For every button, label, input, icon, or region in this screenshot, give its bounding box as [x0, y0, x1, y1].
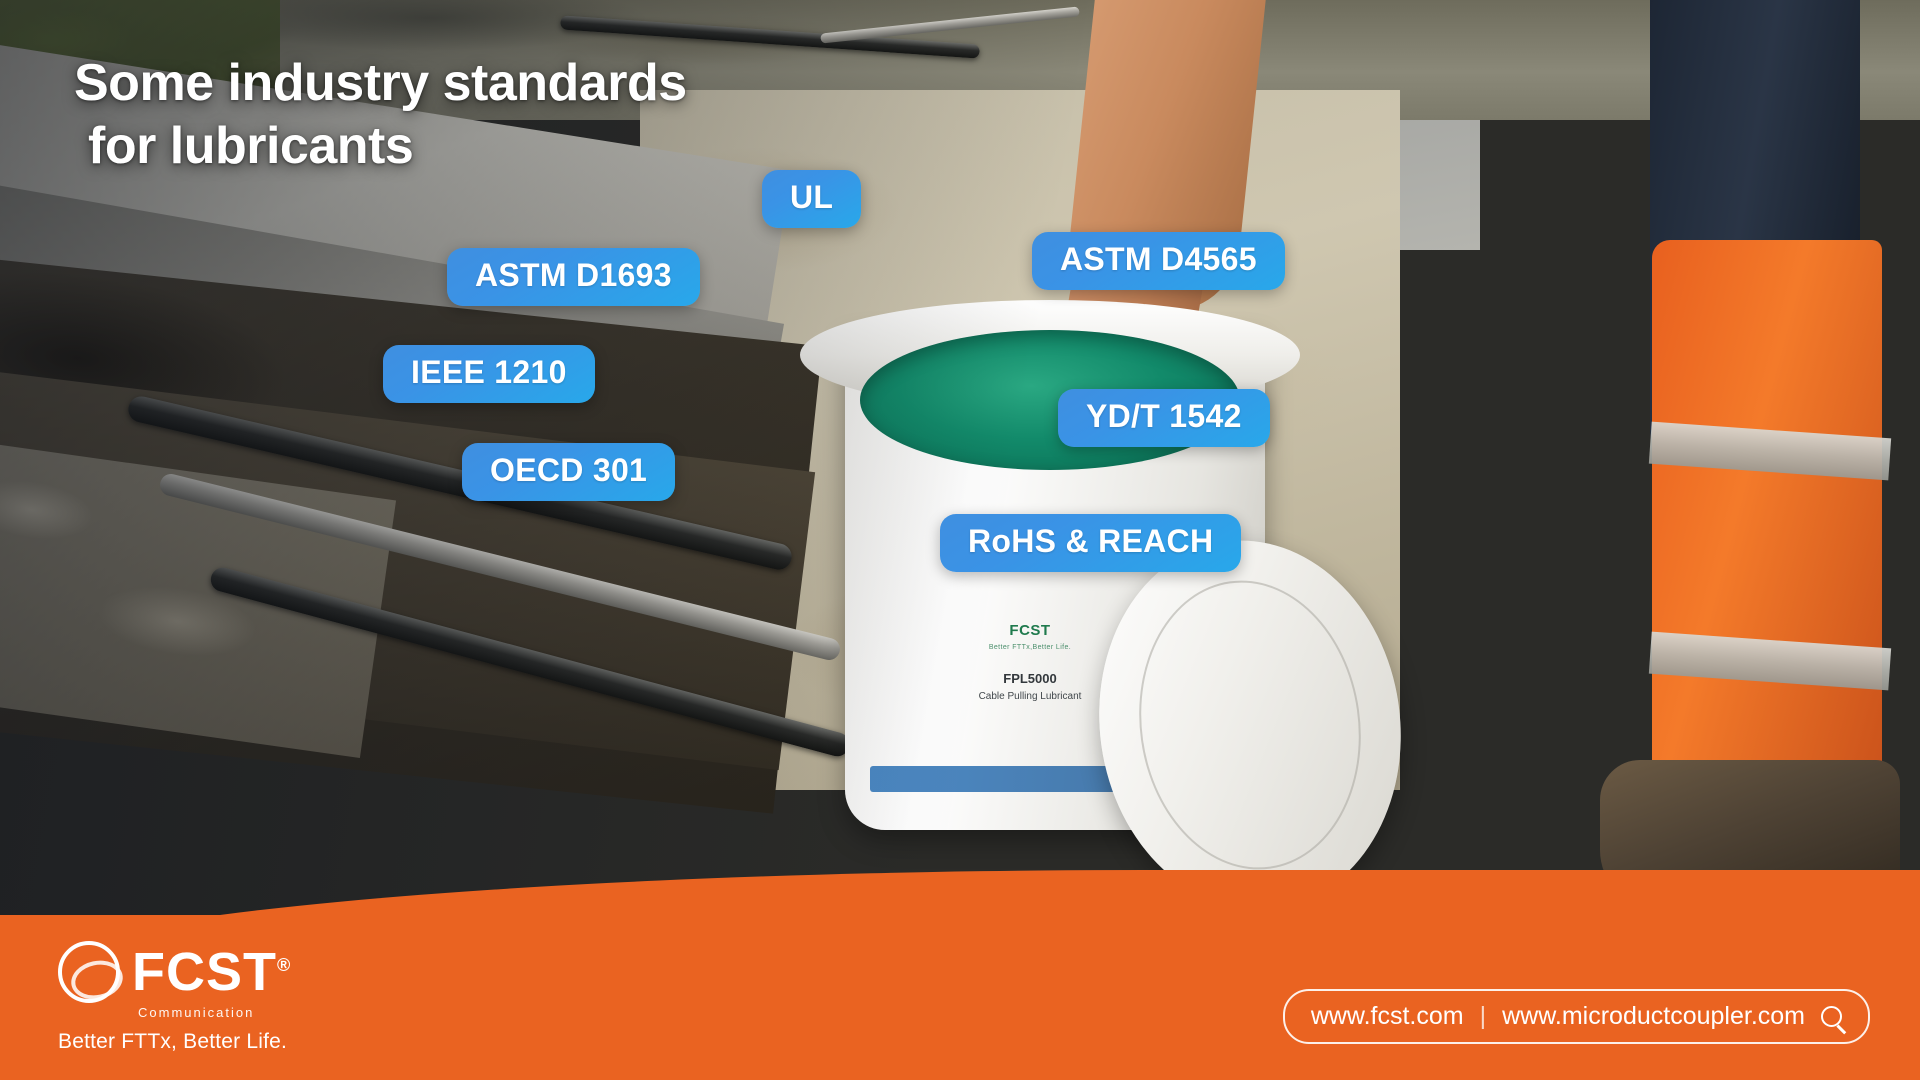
standard-badge-label: OECD 301 — [490, 452, 647, 489]
standard-badge-ieee-1210: IEEE 1210 — [383, 345, 595, 403]
brand-tagline: Better FTTx, Better Life. — [58, 1030, 478, 1054]
standard-badge-label: UL — [790, 179, 833, 216]
standard-badge-label: IEEE 1210 — [411, 354, 567, 391]
standard-badge-label: ASTM D1693 — [475, 257, 672, 294]
search-icon[interactable] — [1821, 1006, 1842, 1027]
logo-wordmark: FCST® — [132, 945, 291, 999]
url-primary[interactable]: www.fcst.com — [1311, 1002, 1464, 1031]
logo-row: FCST® — [58, 941, 478, 1003]
logo-text-label: FCST — [132, 942, 277, 1002]
fcst-logo-icon — [58, 941, 120, 1003]
standard-badge-oecd-301: OECD 301 — [462, 443, 675, 501]
website-url-pill[interactable]: www.fcst.com | www.microductcoupler.com — [1283, 989, 1870, 1044]
headline-line-1: Some industry standards — [74, 54, 687, 112]
standard-badge-rohs-reach: RoHS & REACH — [940, 514, 1241, 572]
standard-badge-label: YD/T 1542 — [1086, 398, 1242, 435]
url-secondary[interactable]: www.microductcoupler.com — [1502, 1002, 1805, 1031]
standard-badge-astm-d1693: ASTM D1693 — [447, 248, 700, 306]
standard-badge-yd-t-1542: YD/T 1542 — [1058, 389, 1270, 447]
standard-badge-astm-d4565: ASTM D4565 — [1032, 232, 1285, 290]
url-divider: | — [1480, 1002, 1487, 1031]
standard-badge-ul: UL — [762, 170, 861, 228]
footer-bar: FCST® Communication Better FTTx, Better … — [0, 870, 1920, 1080]
logo-subtitle: Communication — [58, 1005, 478, 1020]
page-title: Some industry standards for lubricants — [74, 52, 974, 179]
brand-logo-block: FCST® Communication Better FTTx, Better … — [58, 941, 478, 1054]
standard-badge-label: ASTM D4565 — [1060, 241, 1257, 278]
registered-trademark-icon: ® — [277, 955, 291, 975]
standard-badge-label: RoHS & REACH — [968, 523, 1213, 560]
